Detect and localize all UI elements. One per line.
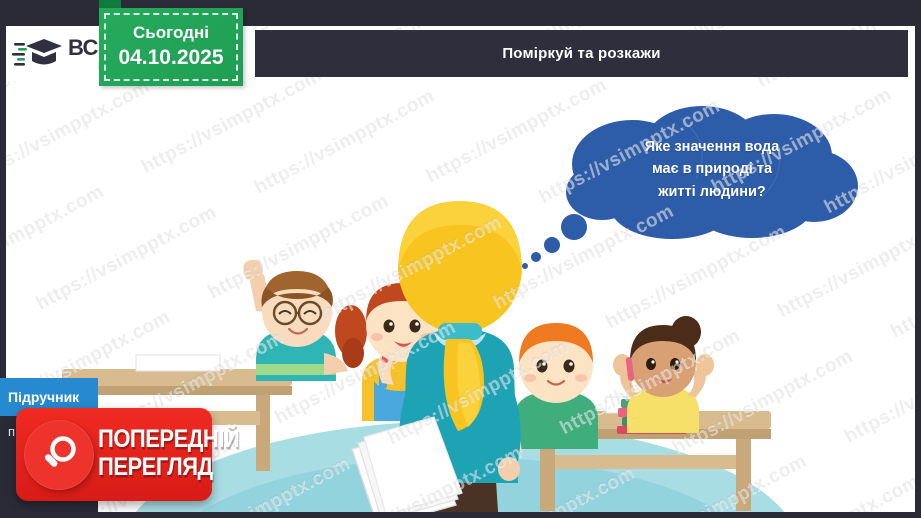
frame-right-trim [915, 0, 921, 518]
date-value: 04.10.2025 [118, 45, 223, 70]
textbook-label: Підручник [8, 389, 79, 405]
date-badge: Сьогодні 04.10.2025 [99, 0, 243, 86]
date-badge-body: Сьогодні 04.10.2025 [99, 8, 243, 86]
preview-stamp[interactable]: ПОПЕРЕДНІЙ ПЕРЕГЛЯД [16, 408, 212, 501]
slide-header-bar: Поміркуй та розкажи [255, 30, 908, 77]
magnifier-icon [37, 433, 81, 477]
preview-stamp-line-2: ПЕРЕГЛЯД [98, 455, 239, 480]
textbook-sub-label: п [8, 424, 15, 439]
preview-stamp-line-1: ПОПЕРЕДНІЙ [98, 427, 239, 452]
slide-viewer: Яке значення вода має в природі та житті… [0, 0, 921, 518]
pupil-girl-yellow [613, 316, 714, 433]
teacher-back-view [352, 201, 522, 512]
thought-bubble: Яке значення вода має в природі та житті… [562, 104, 862, 239]
pupil-boy-glasses [243, 260, 348, 381]
date-today-label: Сьогодні [133, 24, 209, 43]
preview-stamp-text: ПОПЕРЕДНІЙ ПЕРЕГЛЯД [98, 427, 239, 483]
page-title: Поміркуй та розкажи [502, 45, 660, 62]
preview-stamp-circle [24, 420, 94, 490]
thought-bubble-shape [562, 104, 862, 239]
frame-bottom-trim [0, 512, 921, 518]
graduation-cap-icon [12, 34, 66, 74]
